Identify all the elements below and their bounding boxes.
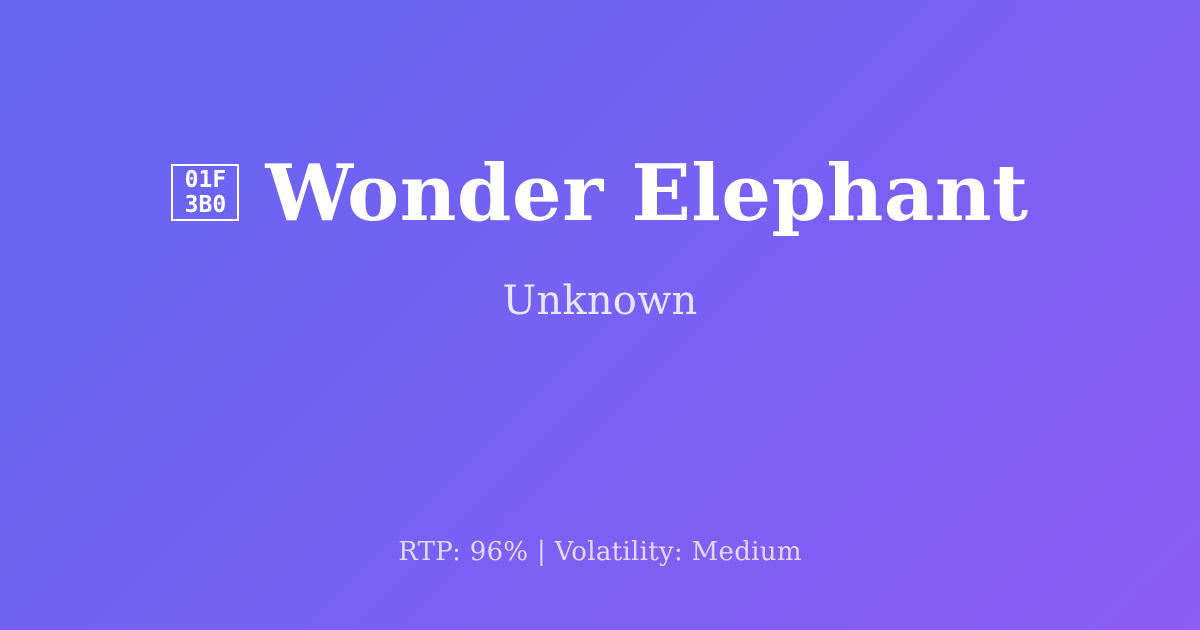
game-share-card: 01F 3B0 Wonder Elephant Unknown RTP: 96%… <box>0 0 1200 630</box>
game-provider: Unknown <box>503 277 698 325</box>
game-meta-line: RTP: 96% | Volatility: Medium <box>0 537 1200 568</box>
slot-machine-icon: 01F 3B0 <box>171 164 239 221</box>
glyph-codepoint-bottom: 3B0 <box>185 193 227 218</box>
glyph-codepoint-top: 01F <box>185 168 227 193</box>
title-row: 01F 3B0 Wonder Elephant <box>171 153 1028 236</box>
game-title: Wonder Elephant <box>265 153 1028 236</box>
hero-section: 01F 3B0 Wonder Elephant Unknown <box>0 0 1200 478</box>
